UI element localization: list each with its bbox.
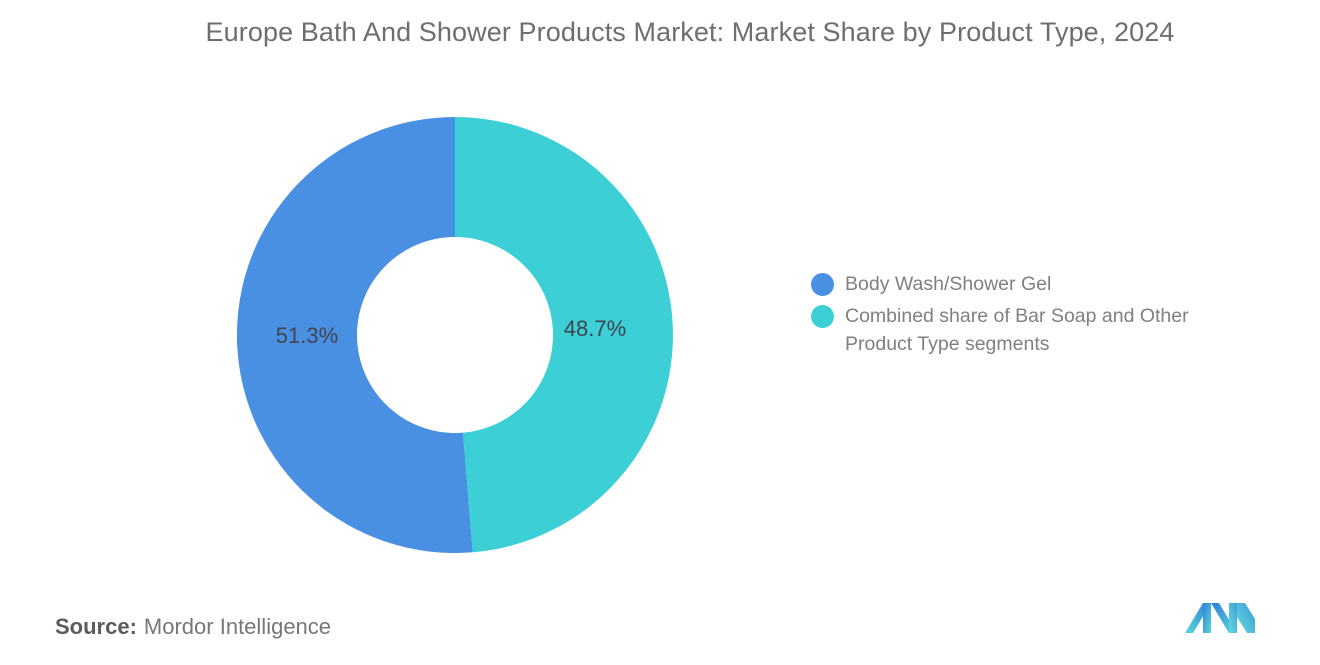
legend-swatch-icon-body-wash [811,273,834,296]
donut-chart: 51.3% 48.7% [237,117,673,553]
source-label: Source: [55,614,137,639]
donut-hole [357,237,553,433]
donut-chart-svg: 51.3% 48.7% [237,117,673,553]
slice-label-bar-soap-other: 48.7% [564,316,626,341]
logo-svg [1185,601,1255,635]
legend-item-bar-soap-other[interactable]: Combined share of Bar Soap and Other Pro… [811,302,1251,358]
legend-swatch-icon-bar-soap-other [811,305,834,328]
mordor-intelligence-logo-icon [1185,601,1255,635]
legend-label-body-wash: Body Wash/Shower Gel [845,270,1051,298]
slice-label-body-wash: 51.3% [276,323,338,348]
chart-legend: Body Wash/Shower Gel Combined share of B… [811,270,1251,362]
source-value: Mordor Intelligence [144,614,331,639]
source-line: Source:Mordor Intelligence [55,612,331,642]
legend-item-body-wash[interactable]: Body Wash/Shower Gel [811,270,1251,298]
legend-label-bar-soap-other: Combined share of Bar Soap and Other Pro… [845,302,1237,358]
page-title: Europe Bath And Shower Products Market: … [160,12,1220,52]
